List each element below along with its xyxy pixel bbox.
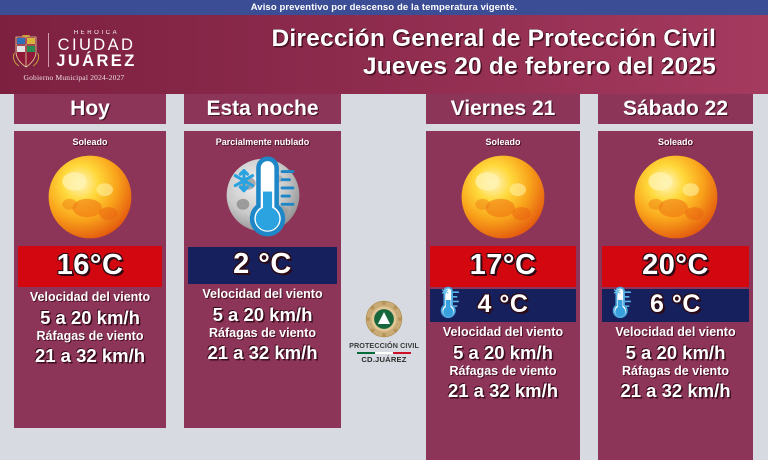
low-temp-band-sabado-22: 6 °C bbox=[602, 289, 749, 322]
wind-gusts-value-esta-noche: 21 a 32 km/h bbox=[188, 341, 337, 364]
wind-info-viernes-21: Velocidad del viento 5 a 20 km/h Ráfagas… bbox=[430, 322, 576, 403]
municipal-logo: HEROICA CIUDAD JUÁREZ Gobierno Municipal… bbox=[0, 15, 148, 94]
forecast-card-hoy[interactable]: Hoy Soleado bbox=[14, 94, 166, 428]
card-title-hoy: Hoy bbox=[14, 94, 166, 124]
page-date: Jueves 20 de febrero del 2025 bbox=[363, 53, 716, 81]
wind-speed-label: Velocidad del viento bbox=[430, 325, 576, 341]
header-title-block: Dirección General de Protección Civil Ju… bbox=[148, 15, 768, 94]
wind-gusts-value-hoy: 21 a 32 km/h bbox=[18, 344, 162, 367]
wind-gusts-value-viernes-21: 21 a 32 km/h bbox=[430, 379, 576, 402]
sun-icon bbox=[630, 151, 722, 243]
forecast-card-viernes-21[interactable]: Viernes 21 Soleado 17°C bbox=[426, 94, 580, 460]
logo-juarez: JUÁREZ bbox=[56, 53, 136, 70]
wind-info-hoy: Velocidad del viento 5 a 20 km/h Ráfagas… bbox=[18, 287, 162, 368]
wind-speed-label: Velocidad del viento bbox=[188, 287, 337, 303]
wind-info-sabado-22: Velocidad del viento 5 a 20 km/h Ráfagas… bbox=[602, 322, 749, 403]
card-title-sabado-22: Sábado 22 bbox=[598, 94, 753, 124]
wind-speed-value-hoy: 5 a 20 km/h bbox=[18, 306, 162, 329]
wind-gusts-label: Ráfagas de viento bbox=[188, 326, 337, 342]
page-header: HEROICA CIUDAD JUÁREZ Gobierno Municipal… bbox=[0, 15, 768, 94]
low-temp-band-esta-noche: 2 °C bbox=[188, 247, 337, 284]
low-temp-band-viernes-21: 4 °C bbox=[430, 289, 576, 322]
wind-speed-value-sabado-22: 5 a 20 km/h bbox=[602, 341, 749, 364]
wind-speed-value-viernes-21: 5 a 20 km/h bbox=[430, 341, 576, 364]
card-title-viernes-21: Viernes 21 bbox=[426, 94, 580, 124]
logo-heroica: HEROICA bbox=[74, 30, 120, 36]
logo-divider bbox=[48, 33, 49, 67]
high-temp-band-hoy: 16°C bbox=[18, 246, 162, 287]
wind-speed-value-esta-noche: 5 a 20 km/h bbox=[188, 303, 337, 326]
alert-text: Aviso preventivo por descenso de la temp… bbox=[251, 2, 518, 13]
wind-gusts-label: Ráfagas de viento bbox=[18, 329, 162, 345]
wind-info-esta-noche: Velocidad del viento 5 a 20 km/h Ráfagas… bbox=[188, 284, 337, 365]
thermometer-cold-icon bbox=[609, 286, 633, 324]
low-temp-viernes-21: 4 °C bbox=[478, 292, 529, 317]
mexican-flag-divider bbox=[357, 352, 411, 354]
proteccion-civil-city: CD.JUÁREZ bbox=[361, 355, 406, 364]
forecast-card-sabado-22[interactable]: Sábado 22 Soleado 20°C bbox=[598, 94, 753, 460]
card-condition-hoy: Soleado bbox=[72, 138, 107, 148]
card-condition-sabado-22: Soleado bbox=[658, 138, 693, 148]
high-temp-viernes-21: 17°C bbox=[470, 251, 537, 280]
low-temp-esta-noche: 2 °C bbox=[233, 250, 292, 279]
proteccion-civil-triangle-emblem-icon bbox=[365, 300, 403, 338]
proteccion-civil-name: PROTECCIÓN CIVIL bbox=[349, 341, 419, 350]
forecast-cards: Hoy Soleado bbox=[0, 94, 768, 433]
high-temp-band-sabado-22: 20°C bbox=[602, 246, 749, 287]
sun-icon bbox=[457, 151, 549, 243]
coat-of-arms-shield-icon bbox=[11, 30, 41, 70]
card-title-esta-noche: Esta noche bbox=[184, 94, 341, 124]
high-temp-band-viernes-21: 17°C bbox=[430, 246, 576, 287]
card-condition-esta-noche: Parcialmente nublado bbox=[216, 138, 310, 148]
wind-gusts-label: Ráfagas de viento bbox=[602, 364, 749, 380]
forecast-card-esta-noche[interactable]: Esta noche Parcialmente nublado bbox=[184, 94, 341, 428]
high-temp-sabado-22: 20°C bbox=[642, 251, 709, 280]
wind-speed-label: Velocidad del viento bbox=[18, 290, 162, 306]
card-condition-viernes-21: Soleado bbox=[485, 138, 520, 148]
low-temp-sabado-22: 6 °C bbox=[650, 292, 701, 317]
page-title: Dirección General de Protección Civil bbox=[272, 25, 716, 53]
moon-thermometer-snowflake-icon bbox=[213, 151, 313, 243]
sun-icon bbox=[44, 151, 136, 243]
proteccion-civil-logo: PROTECCIÓN CIVIL CD.JUÁREZ bbox=[352, 300, 416, 364]
alert-banner: Aviso preventivo por descenso de la temp… bbox=[0, 0, 768, 15]
wind-speed-label: Velocidad del viento bbox=[602, 325, 749, 341]
high-temp-hoy: 16°C bbox=[57, 251, 124, 280]
wind-gusts-label: Ráfagas de viento bbox=[430, 364, 576, 380]
thermometer-cold-icon bbox=[437, 286, 461, 324]
logo-gobierno-municipal: Gobierno Municipal 2024-2027 bbox=[23, 73, 124, 82]
wind-gusts-value-sabado-22: 21 a 32 km/h bbox=[602, 379, 749, 402]
